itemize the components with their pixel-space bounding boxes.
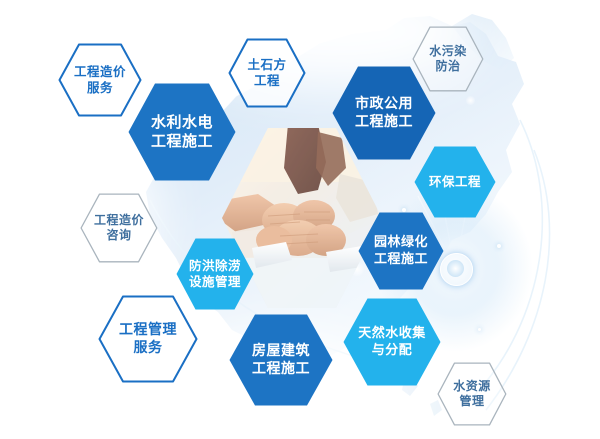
hexagon-label: 水资源 管理 [453,379,491,410]
hexagon-label: 天然水收集 与分配 [358,325,426,358]
bokeh-dot [466,96,475,105]
hexagon-water-resources-management[interactable]: 水资源 管理 [437,362,507,426]
hexagon-engineering-cost-consulting[interactable]: 工程造价 咨询 [80,193,158,263]
hexagon-label: 工程造价 咨询 [94,213,144,244]
hexagon-label: 土石方 工程 [247,57,286,89]
hexagon-label: 工程管理 服务 [119,321,177,357]
hexagon-landscaping-engineering-construction[interactable]: 园林绿化 工程施工 [358,212,444,290]
hexagon-building-construction-engineering[interactable]: 房屋建筑 工程施工 [229,314,333,406]
hexagon-natural-water-collection-distribution[interactable]: 天然水收集 与分配 [343,298,441,386]
hexagon-label: 市政公用 工程施工 [355,95,413,131]
hexagon-label: 环保工程 [429,174,481,190]
network-node-ring [440,253,473,286]
network-dot [478,328,481,331]
hexagon-label: 防洪除涝 设施管理 [189,258,241,290]
hexagon-label: 水污染 防治 [429,44,467,75]
hexagon-label: 园林绿化 工程施工 [374,234,428,267]
hexagon-label: 房屋建筑 工程施工 [252,342,310,378]
network-node-core [447,260,464,277]
hexagon-earthwork-engineering[interactable]: 土石方 工程 [228,38,306,108]
hexagon-label: 水利水电 工程施工 [151,113,213,151]
hexagon-label: 工程造价 服务 [74,64,126,96]
network-dot [497,244,501,248]
hexagon-engineering-management-service[interactable]: 工程管理 服务 [98,295,198,383]
hexagon-water-conservancy-hydropower-construction[interactable]: 水利水电 工程施工 [128,83,236,181]
poster-canvas: 工程造价 服务土石方 工程水污染 防治水利水电 工程施工市政公用 工程施工环保工… [0,0,600,439]
hexagon-environmental-protection-engineering[interactable]: 环保工程 [414,146,496,218]
